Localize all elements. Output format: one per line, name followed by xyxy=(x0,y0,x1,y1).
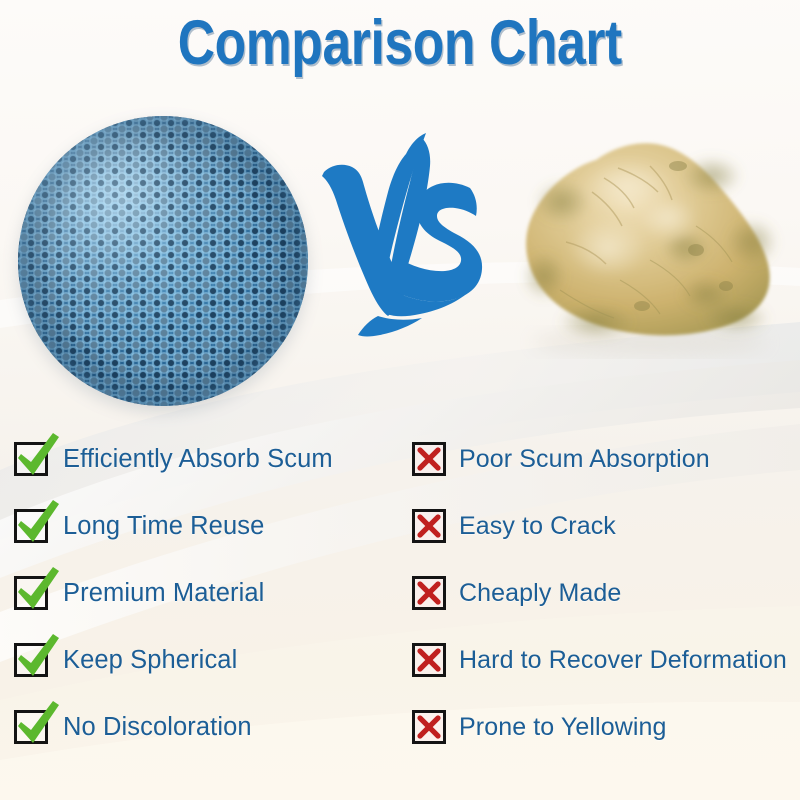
list-item-label: Cheaply Made xyxy=(459,578,621,608)
page-title: Comparison Chart xyxy=(178,8,622,78)
versus-brush-icon xyxy=(318,130,488,360)
list-item[interactable]: Hard to Recover Deformation xyxy=(398,626,798,693)
cons-column: Poor Scum Absorption Easy to Crack xyxy=(398,425,798,760)
list-item[interactable]: Easy to Crack xyxy=(398,492,798,559)
cross-icon xyxy=(412,576,446,610)
list-item-label: Hard to Recover Deformation xyxy=(459,645,787,675)
pros-column: Efficiently Absorb Scum Long Time Reuse … xyxy=(0,425,400,760)
list-item-label: Efficiently Absorb Scum xyxy=(63,444,333,474)
check-icon xyxy=(14,442,48,476)
list-item-label: Prone to Yellowing xyxy=(459,712,667,742)
list-item[interactable]: Prone to Yellowing xyxy=(398,693,798,760)
cross-icon xyxy=(412,509,446,543)
list-item-label: Poor Scum Absorption xyxy=(459,444,710,474)
blue-mesh-sponge-ball-image xyxy=(18,116,308,406)
cross-icon xyxy=(412,643,446,677)
hero-product-row xyxy=(0,100,800,400)
check-icon xyxy=(14,710,48,744)
check-icon xyxy=(14,509,48,543)
list-item[interactable]: Long Time Reuse xyxy=(0,492,400,559)
list-item[interactable]: Premium Material xyxy=(0,559,400,626)
list-item[interactable]: Cheaply Made xyxy=(398,559,798,626)
cross-icon xyxy=(412,442,446,476)
check-icon xyxy=(14,643,48,677)
list-item-label: Easy to Crack xyxy=(459,511,616,541)
page-title-wrap: Comparison Chart xyxy=(0,8,800,78)
list-item[interactable]: Keep Spherical xyxy=(0,626,400,693)
comparison-lists: Efficiently Absorb Scum Long Time Reuse … xyxy=(0,425,800,800)
list-item-label: Premium Material xyxy=(63,578,264,608)
list-item-label: Keep Spherical xyxy=(63,645,237,675)
list-item-label: No Discoloration xyxy=(63,712,252,742)
cross-icon xyxy=(412,710,446,744)
list-item-label: Long Time Reuse xyxy=(63,511,264,541)
comparison-chart-page: Comparison Chart xyxy=(0,0,800,800)
list-item[interactable]: Poor Scum Absorption xyxy=(398,425,798,492)
list-item[interactable]: Efficiently Absorb Scum xyxy=(0,425,400,492)
ball-rim-highlight xyxy=(18,116,308,406)
list-item[interactable]: No Discoloration xyxy=(0,693,400,760)
check-icon xyxy=(14,576,48,610)
natural-sea-sponge-image xyxy=(500,130,800,370)
